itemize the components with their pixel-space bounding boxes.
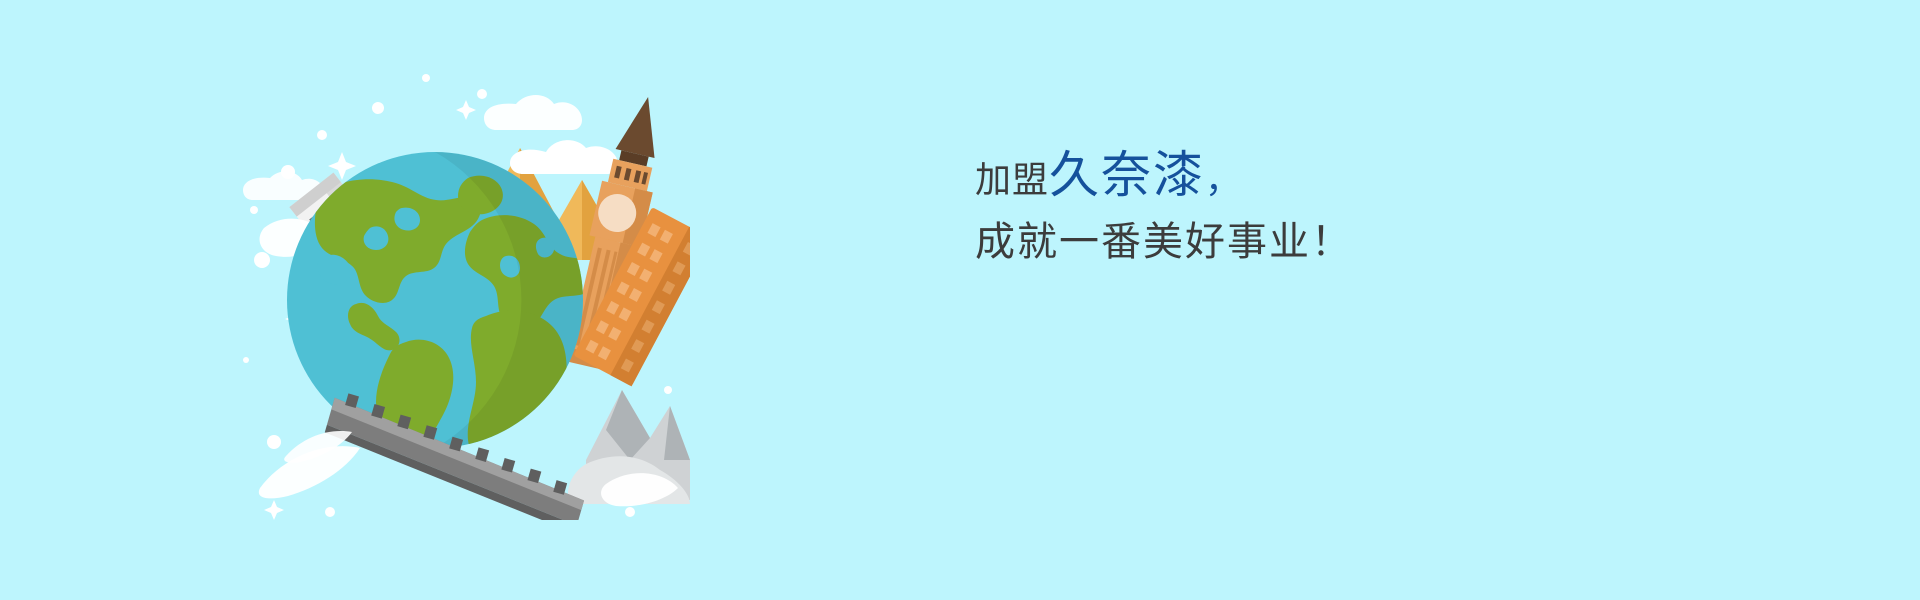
world-globe-illustration — [230, 60, 690, 520]
headline-lead-text: 加盟 — [975, 159, 1049, 200]
cloud-shape-top — [510, 140, 618, 174]
headline-comma: ， — [1205, 159, 1241, 200]
headline-subtitle-text: 成就一番美好事业！ — [975, 220, 1353, 264]
brand-name-text: 久奈漆 — [1049, 147, 1205, 203]
headline-line-2: 成就一番美好事业！ — [975, 222, 1675, 262]
headline-line-1: 加盟久奈漆， — [975, 150, 1675, 200]
headline-block: 加盟久奈漆， 成就一番美好事业！ — [975, 150, 1675, 262]
promo-banner: 加盟久奈漆， 成就一番美好事业！ — [0, 0, 1920, 600]
